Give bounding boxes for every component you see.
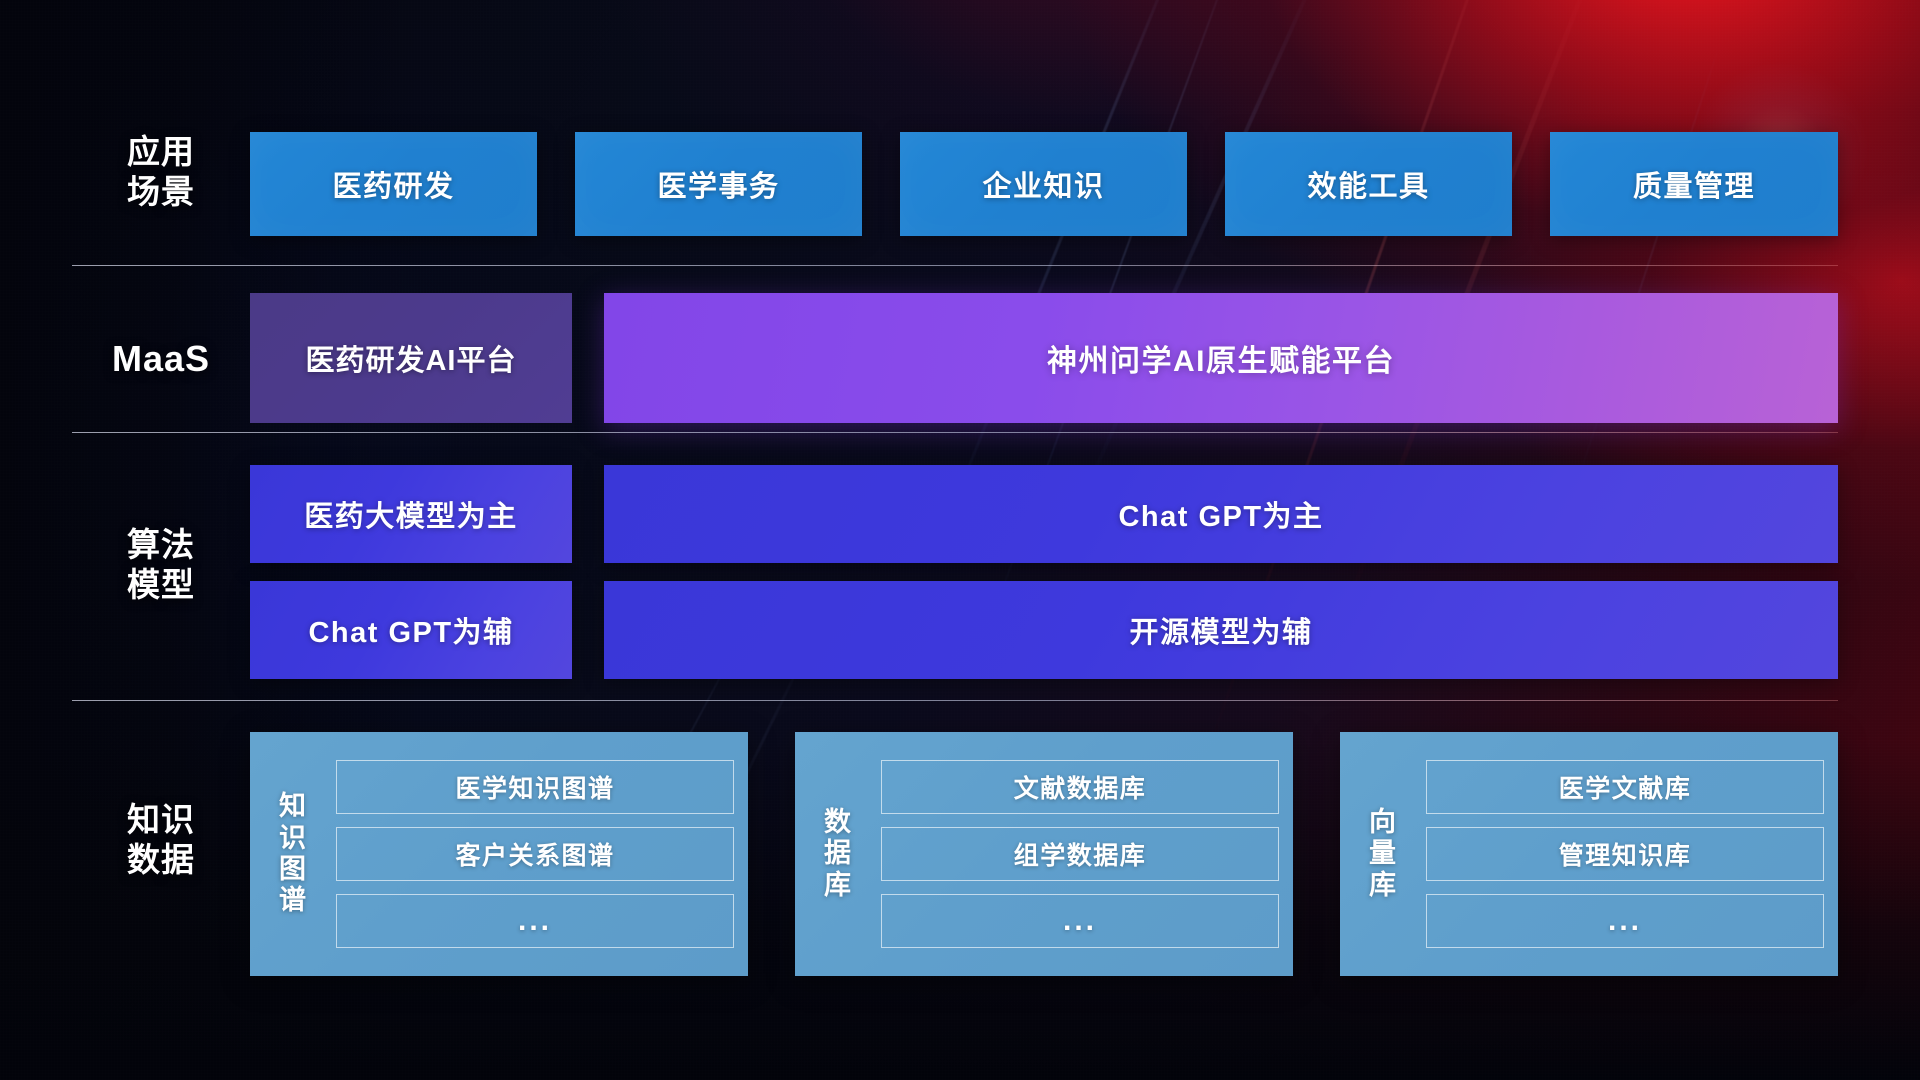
knowledge-panel-items: 医学文献库 管理知识库 ... (1416, 760, 1824, 948)
knowledge-panel-vector-store[interactable]: 向 量 库 医学文献库 管理知识库 ... (1340, 732, 1838, 976)
knowledge-item[interactable]: 文献数据库 (881, 760, 1279, 814)
algorithm-box-pharma-llm-primary[interactable]: 医药大模型为主 (250, 465, 572, 563)
app-box-medicine-rd[interactable]: 医药研发 (250, 132, 537, 236)
knowledge-panel-database[interactable]: 数 据 库 文献数据库 组学数据库 ... (795, 732, 1293, 976)
algorithm-box-label: Chat GPT为主 (1118, 493, 1323, 535)
slide-canvas: 应用 场景 医药研发 医学事务 企业知识 效能工具 质量管理 MaaS 医药研发… (0, 0, 1920, 1080)
knowledge-panel-graph[interactable]: 知 识 图 谱 医学知识图谱 客户关系图谱 ... (250, 732, 748, 976)
knowledge-item-more[interactable]: ... (881, 894, 1279, 948)
knowledge-panel-title: 数 据 库 (805, 807, 871, 901)
algorithm-box-opensource-secondary[interactable]: 开源模型为辅 (604, 581, 1838, 679)
algorithm-box-label: 开源模型为辅 (1129, 609, 1312, 651)
app-box-quality-management[interactable]: 质量管理 (1550, 132, 1838, 236)
knowledge-panel-items: 文献数据库 组学数据库 ... (871, 760, 1279, 948)
knowledge-item-more[interactable]: ... (1426, 894, 1824, 948)
knowledge-panel-items: 医学知识图谱 客户关系图谱 ... (326, 760, 734, 948)
app-box-label: 质量管理 (1633, 163, 1755, 205)
divider-1 (72, 265, 1838, 266)
diagram-content: 应用 场景 医药研发 医学事务 企业知识 效能工具 质量管理 MaaS 医药研发… (0, 0, 1920, 1080)
app-box-label: 效能工具 (1307, 163, 1429, 205)
app-box-medical-affairs[interactable]: 医学事务 (575, 132, 862, 236)
knowledge-panel-title: 知 识 图 谱 (260, 791, 326, 916)
app-box-label: 医药研发 (332, 163, 454, 205)
app-box-label: 企业知识 (982, 163, 1104, 205)
algorithm-box-chatgpt-secondary[interactable]: Chat GPT为辅 (250, 581, 572, 679)
knowledge-panel-title: 向 量 库 (1350, 807, 1416, 901)
app-box-label: 医学事务 (657, 163, 779, 205)
knowledge-item[interactable]: 客户关系图谱 (336, 827, 734, 881)
row-label-application-scenarios: 应用 场景 (86, 132, 236, 213)
knowledge-item[interactable]: 管理知识库 (1426, 827, 1824, 881)
maas-box-shenzhou-wenxue-platform[interactable]: 神州问学AI原生赋能平台 (604, 293, 1838, 423)
app-box-efficiency-tools[interactable]: 效能工具 (1225, 132, 1512, 236)
knowledge-item[interactable]: 医学知识图谱 (336, 760, 734, 814)
app-box-enterprise-knowledge[interactable]: 企业知识 (900, 132, 1187, 236)
divider-3 (72, 700, 1838, 701)
maas-box-label: 神州问学AI原生赋能平台 (1047, 336, 1395, 380)
row-label-maas: MaaS (86, 337, 236, 381)
knowledge-item[interactable]: 组学数据库 (881, 827, 1279, 881)
divider-2 (72, 432, 1838, 433)
algorithm-box-label: Chat GPT为辅 (308, 609, 513, 651)
algorithm-box-label: 医药大模型为主 (304, 493, 518, 535)
algorithm-box-chatgpt-primary[interactable]: Chat GPT为主 (604, 465, 1838, 563)
row-label-knowledge-data: 知识 数据 (86, 800, 236, 881)
maas-box-label: 医药研发AI平台 (305, 337, 516, 379)
row-label-algorithm-model: 算法 模型 (86, 525, 236, 606)
maas-box-pharma-ai-platform[interactable]: 医药研发AI平台 (250, 293, 572, 423)
knowledge-item[interactable]: 医学文献库 (1426, 760, 1824, 814)
knowledge-item-more[interactable]: ... (336, 894, 734, 948)
